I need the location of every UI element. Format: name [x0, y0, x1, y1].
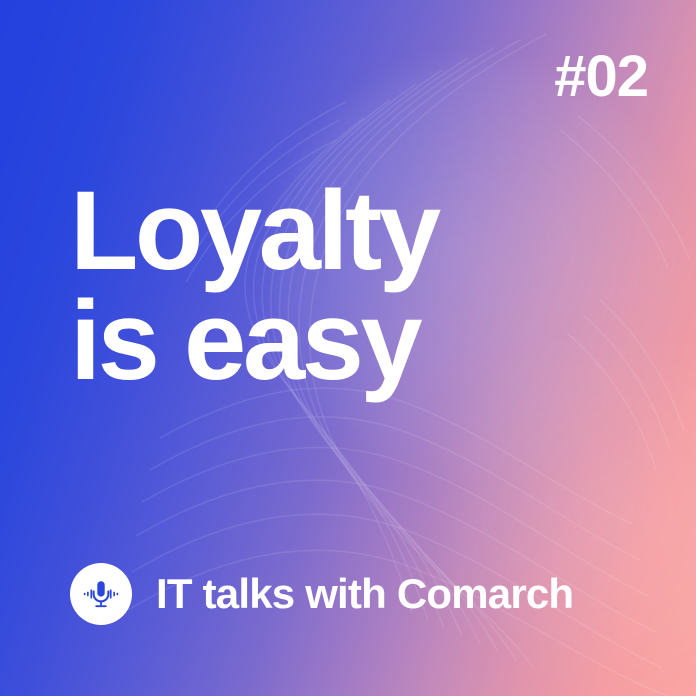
- background-light-blob-secondary: [430, 330, 696, 690]
- podcast-logo: [70, 563, 132, 625]
- page-title: Loyalty is easy: [70, 176, 438, 396]
- brand-name: IT talks with Comarch: [156, 573, 573, 615]
- microphone-icon: [79, 572, 123, 616]
- episode-number: #02: [554, 48, 648, 106]
- podcast-cover-art: #02 Loyalty is easy: [0, 0, 696, 696]
- headline-line-1: Loyalty: [70, 176, 438, 286]
- headline-line-2: is easy: [70, 286, 438, 396]
- brand-lockup: IT talks with Comarch: [70, 563, 573, 625]
